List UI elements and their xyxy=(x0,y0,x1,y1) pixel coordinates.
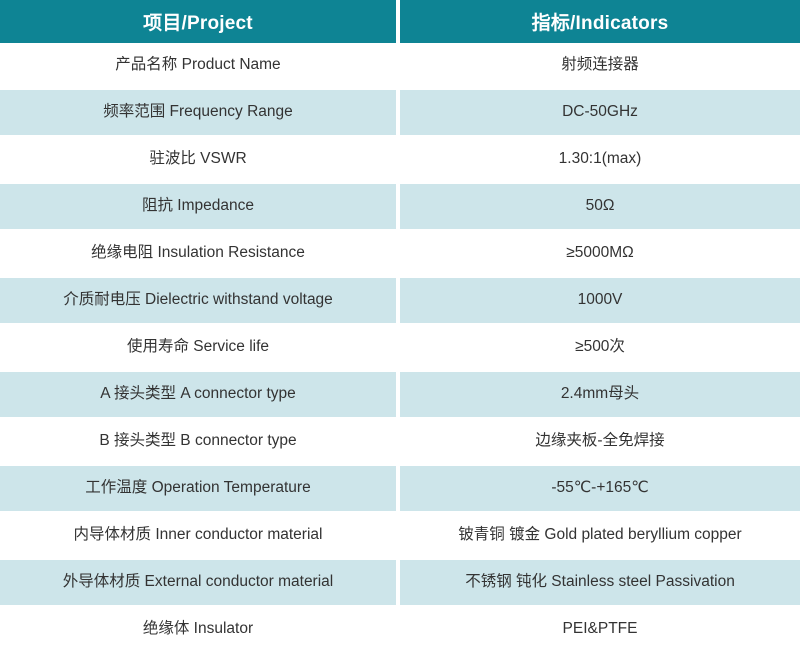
cell-project: B 接头类型 B connector type xyxy=(0,419,400,466)
cell-indicator: ≥500次 xyxy=(400,325,800,372)
table-row: 阻抗 Impedance50Ω xyxy=(0,184,800,231)
cell-indicator: 边缘夹板-全免焊接 xyxy=(400,419,800,466)
column-header-indicator: 指标/Indicators xyxy=(400,0,800,43)
cell-project: 工作温度 Operation Temperature xyxy=(0,466,400,513)
cell-project: 阻抗 Impedance xyxy=(0,184,400,231)
cell-indicator: 1000V xyxy=(400,278,800,325)
table-header: 项目/Project 指标/Indicators xyxy=(0,0,800,43)
table-body: 产品名称 Product Name射频连接器频率范围 Frequency Ran… xyxy=(0,43,800,652)
cell-indicator: ≥5000MΩ xyxy=(400,231,800,278)
table-row: A 接头类型 A connector type2.4mm母头 xyxy=(0,372,800,419)
table-row: 绝缘体 InsulatorPEI&PTFE xyxy=(0,607,800,652)
cell-indicator: 2.4mm母头 xyxy=(400,372,800,419)
cell-project: 介质耐电压 Dielectric withstand voltage xyxy=(0,278,400,325)
cell-project: 产品名称 Product Name xyxy=(0,43,400,90)
cell-project: 驻波比 VSWR xyxy=(0,137,400,184)
table-row: 产品名称 Product Name射频连接器 xyxy=(0,43,800,90)
table-row: 频率范围 Frequency RangeDC-50GHz xyxy=(0,90,800,137)
cell-indicator: 1.30:1(max) xyxy=(400,137,800,184)
cell-project: 绝缘体 Insulator xyxy=(0,607,400,652)
cell-indicator: DC-50GHz xyxy=(400,90,800,137)
cell-project: A 接头类型 A connector type xyxy=(0,372,400,419)
cell-project: 频率范围 Frequency Range xyxy=(0,90,400,137)
table-row: 介质耐电压 Dielectric withstand voltage1000V xyxy=(0,278,800,325)
table-row: 绝缘电阻 Insulation Resistance≥5000MΩ xyxy=(0,231,800,278)
column-header-project: 项目/Project xyxy=(0,0,400,43)
table-row: 驻波比 VSWR1.30:1(max) xyxy=(0,137,800,184)
cell-indicator: 铍青铜 镀金 Gold plated beryllium copper xyxy=(400,513,800,560)
cell-indicator: 射频连接器 xyxy=(400,43,800,90)
cell-indicator: 不锈钢 钝化 Stainless steel Passivation xyxy=(400,560,800,607)
header-row: 项目/Project 指标/Indicators xyxy=(0,0,800,43)
table-row: 外导体材质 External conductor material不锈钢 钝化 … xyxy=(0,560,800,607)
specification-table: 项目/Project 指标/Indicators 产品名称 Product Na… xyxy=(0,0,800,652)
cell-indicator: -55℃-+165℃ xyxy=(400,466,800,513)
cell-project: 绝缘电阻 Insulation Resistance xyxy=(0,231,400,278)
cell-indicator: 50Ω xyxy=(400,184,800,231)
table-row: 内导体材质 Inner conductor material铍青铜 镀金 Gol… xyxy=(0,513,800,560)
cell-project: 外导体材质 External conductor material xyxy=(0,560,400,607)
cell-indicator: PEI&PTFE xyxy=(400,607,800,652)
table-row: B 接头类型 B connector type边缘夹板-全免焊接 xyxy=(0,419,800,466)
cell-project: 内导体材质 Inner conductor material xyxy=(0,513,400,560)
table-row: 使用寿命 Service life≥500次 xyxy=(0,325,800,372)
cell-project: 使用寿命 Service life xyxy=(0,325,400,372)
table-row: 工作温度 Operation Temperature-55℃-+165℃ xyxy=(0,466,800,513)
